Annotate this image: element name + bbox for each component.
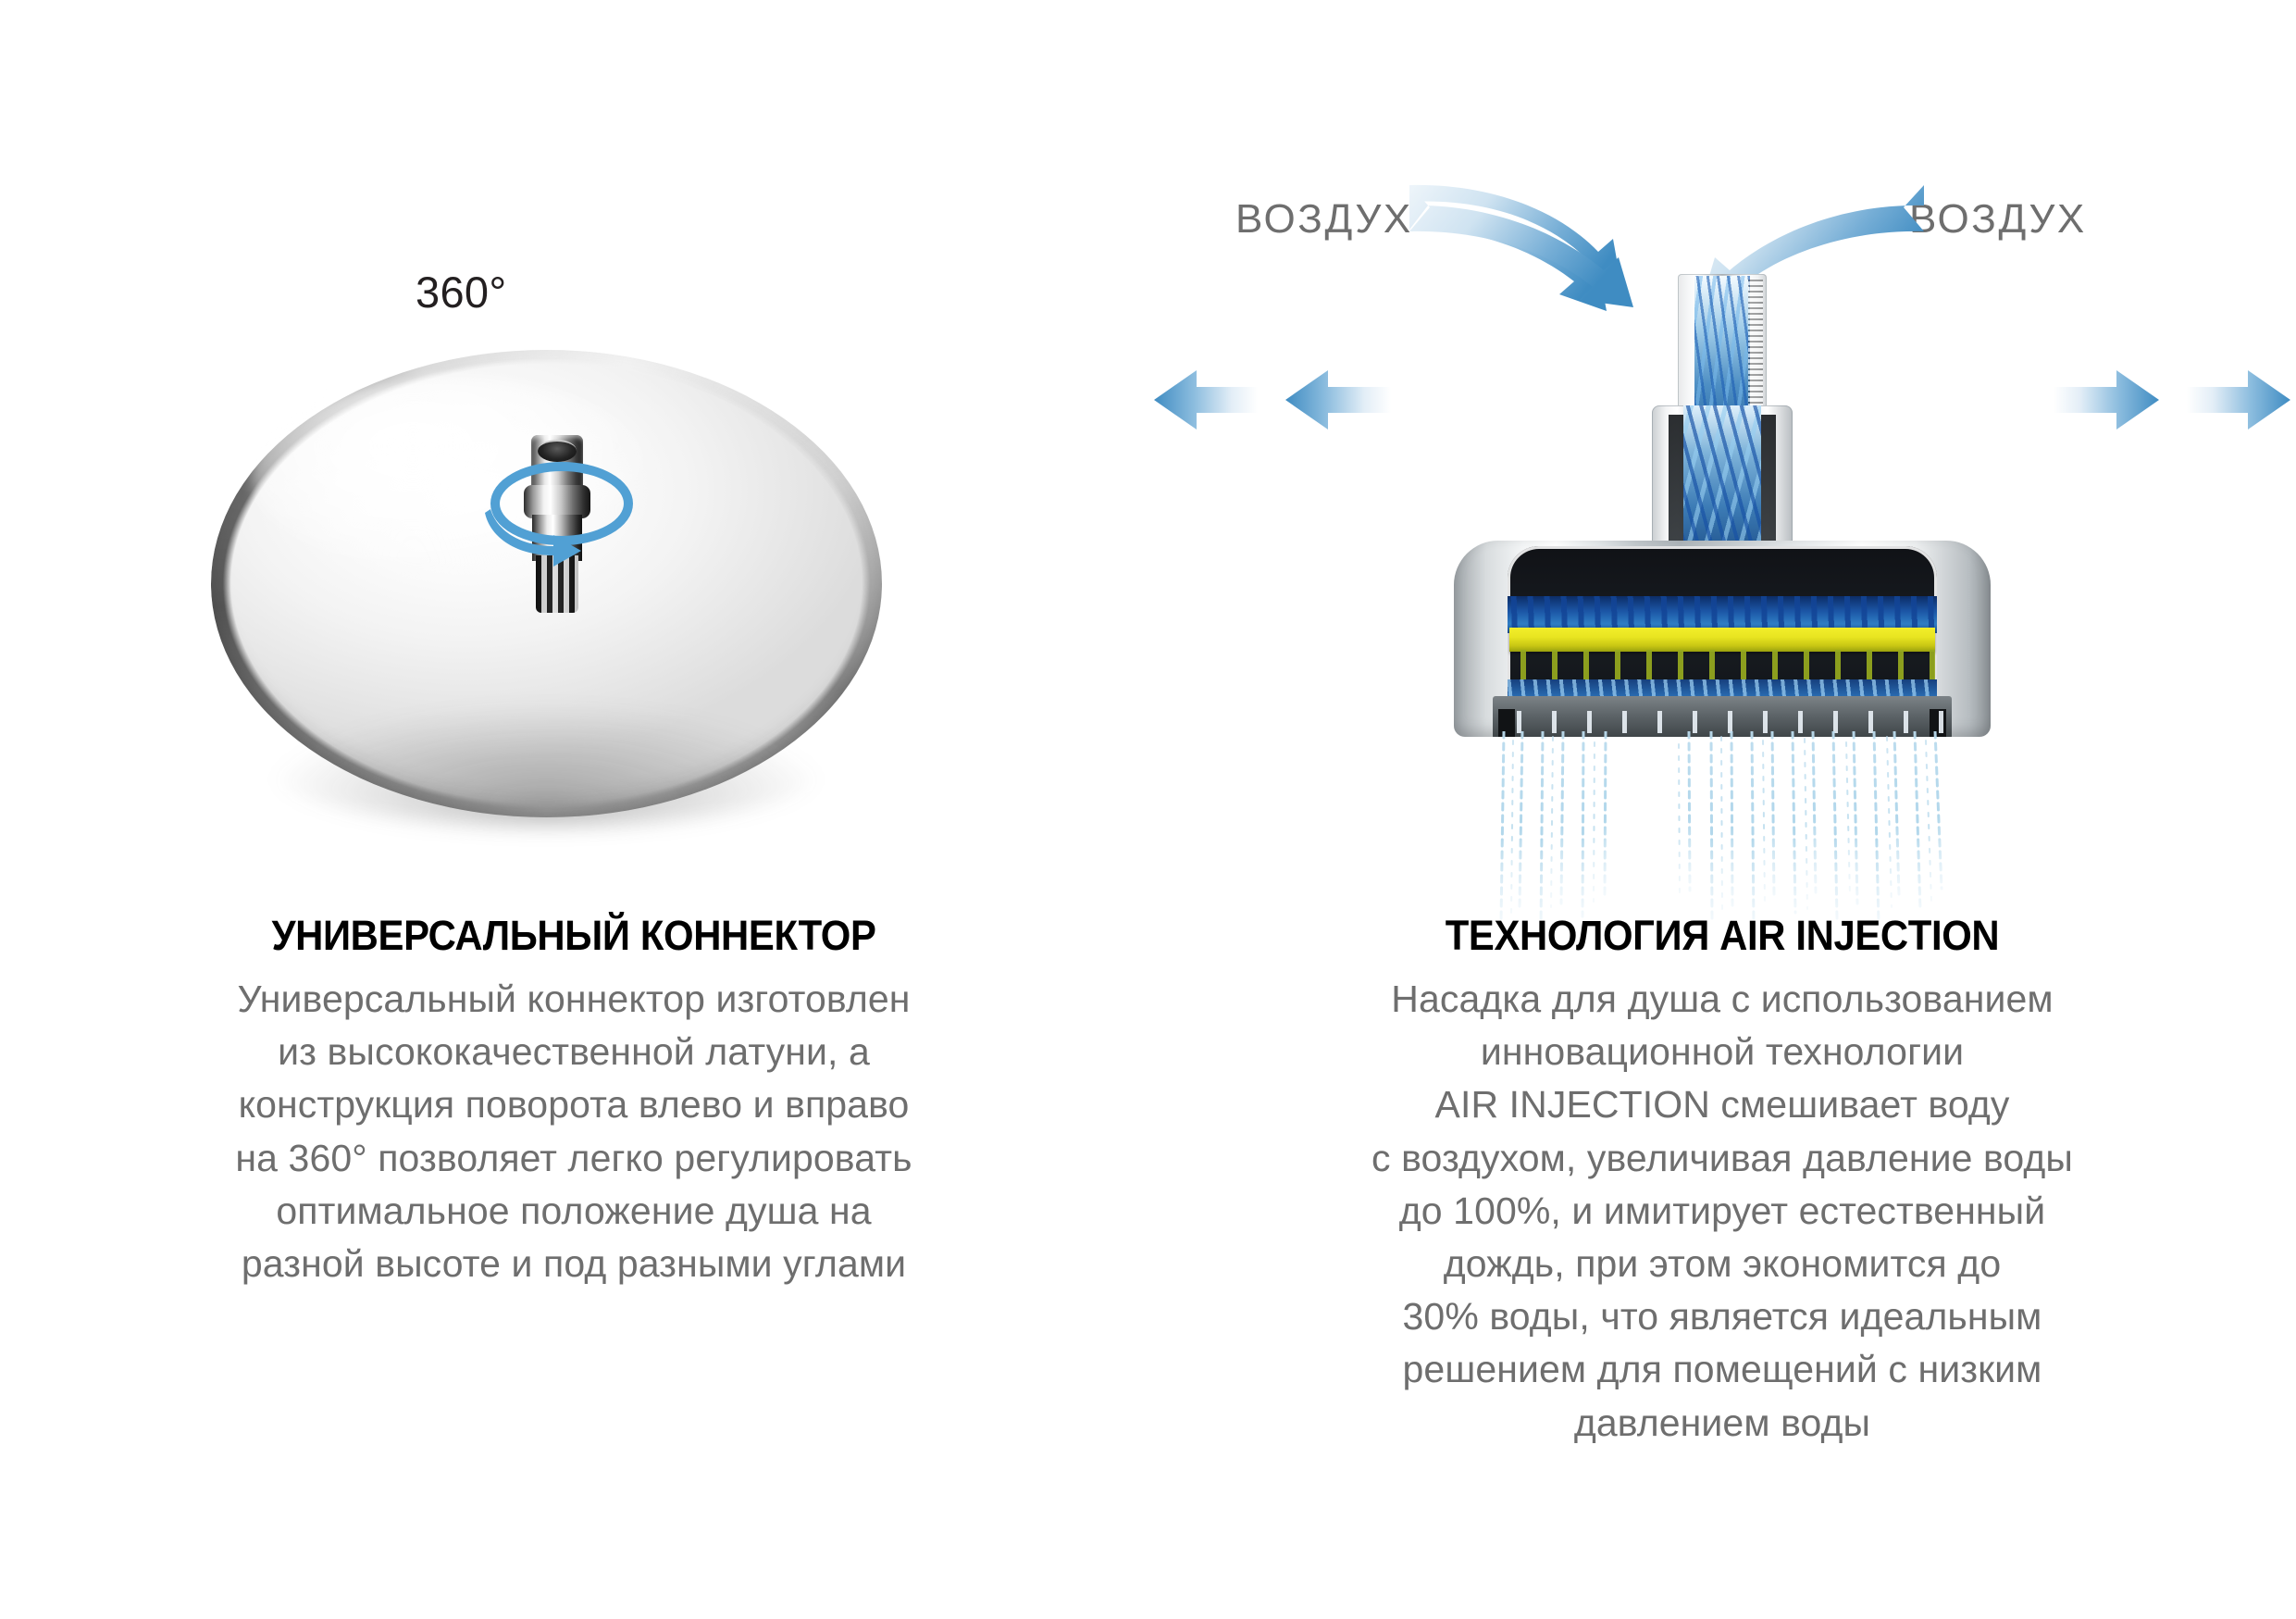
air-label-left: ВОЗДУХ: [1235, 196, 1413, 243]
text-block-universal-connector: УНИВЕРСАЛЬНЫЙ КОННЕКТОР Универсальный ко…: [0, 912, 1148, 1290]
body-line: 30% воды, что является идеальным: [1334, 1290, 2111, 1343]
feature-comparison-page: 360° УНИВЕРСАЛЬНЫЙ КОННЕКТОР Универсальн…: [0, 0, 2296, 1619]
rotation-degree-label: 360°: [416, 267, 506, 318]
body-line: разной высоте и под разными углами: [185, 1238, 962, 1290]
stem-threads: [1748, 280, 1763, 418]
figure-shower-head-top-view: 360°: [0, 0, 1148, 889]
air-label-right: ВОЗДУХ: [1909, 196, 2087, 243]
connector-collar-cutaway: [1652, 405, 1793, 561]
body-line: до 100%, и имитирует естественный: [1334, 1185, 2111, 1238]
air-arrow-right-inner-icon: [2054, 370, 2159, 430]
panel-heading: УНИВЕРСАЛЬНЫЙ КОННЕКТОР: [40, 912, 1107, 960]
panel-air-injection: ВОЗДУХ ВОЗДУХ: [1148, 0, 2296, 1619]
body-line: на 360° позволяет легко регулировать: [185, 1132, 962, 1185]
panel-body: Насадка для душа с использованием иннова…: [1334, 973, 2111, 1450]
panel-body: Универсальный коннектор изготовлен из вы…: [185, 973, 962, 1290]
shower-disc-icon: [211, 350, 882, 817]
nozzle-plate-icon: [1509, 628, 1935, 652]
figure-shower-head-cutaway: ВОЗДУХ ВОЗДУХ: [1148, 0, 2296, 889]
body-line: давлением воды: [1334, 1397, 2111, 1450]
panel-universal-connector: 360° УНИВЕРСАЛЬНЫЙ КОННЕКТОР Универсальн…: [0, 0, 1148, 1619]
rotation-ring-arrow-icon: [485, 457, 639, 567]
shower-head-body: [1454, 541, 1991, 737]
panel-heading: ТЕХНОЛОГИЯ AIR INJECTION: [1188, 912, 2255, 960]
collar-inner-wall-right: [1759, 415, 1776, 561]
body-line: Универсальный коннектор изготовлен: [185, 973, 962, 1026]
body-line: из высококачественной латуни, а: [185, 1026, 962, 1078]
body-line: инновационной технологии: [1334, 1026, 2111, 1078]
body-line: дождь, при этом экономится до: [1334, 1238, 2111, 1290]
text-block-air-injection: ТЕХНОЛОГИЯ AIR INJECTION Насадка для душ…: [1148, 912, 2296, 1450]
nozzle-outlets: [1498, 711, 1946, 733]
body-line: оптимальное положение душа на: [185, 1185, 962, 1238]
body-line: решением для помещений с низким: [1334, 1343, 2111, 1396]
body-line: с воздухом, увеличивая давление воды: [1334, 1132, 2111, 1185]
air-arrow-left-outer-icon: [1154, 370, 1258, 430]
air-arrow-right-outer-icon: [2187, 370, 2290, 430]
air-arrow-left-inner-icon: [1285, 370, 1391, 430]
collar-water-flow: [1683, 405, 1761, 561]
body-line: AIR INJECTION смешивает воду: [1334, 1078, 2111, 1131]
body-line: Насадка для душа с использованием: [1334, 973, 2111, 1026]
shower-disc-shadow: [265, 705, 828, 827]
body-line: конструкция поворота влево и вправо: [185, 1078, 962, 1131]
shower-head-cutaway-icon: [1454, 274, 1991, 792]
